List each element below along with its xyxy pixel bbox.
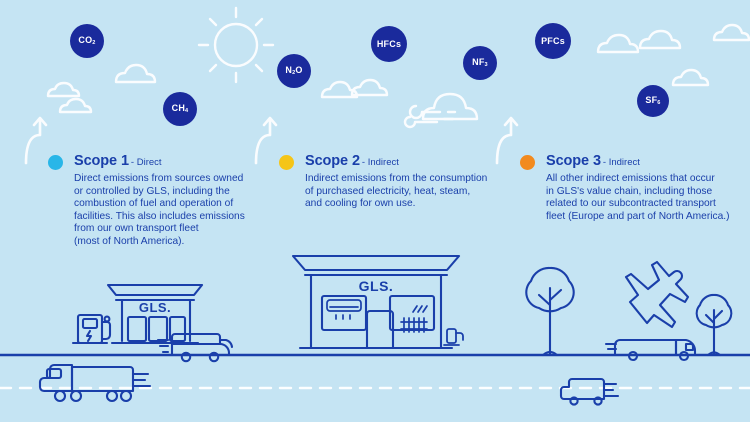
scope-1-block: Scope 1- Direct Direct emissions from so… [48,152,263,249]
scope-1-title: Scope 1 [74,153,129,169]
scope-3-heading: Scope 3- Indirect [546,152,729,170]
scope-3-block: Scope 3- Indirect All other indirect emi… [520,152,745,223]
scope-2-subtitle: - Indirect [362,157,399,168]
tree-icon [526,268,573,355]
scope-1-dot [48,155,63,170]
scope-2-title: Scope 2 [305,153,360,169]
pfcs-bubble: PFCs [535,23,571,59]
warehouse-sign: GLS. [359,278,394,294]
scope-3-dot [520,155,535,170]
sf6-bubble: SF6 [637,85,669,117]
scope-2-dot [279,155,294,170]
radiator-icon [401,306,427,332]
fuel-station-sign: GLS. [139,300,171,315]
scope-2-block: Scope 2- Indirect Indirect emissions fro… [279,152,501,211]
hfcs-bubble: HFCs [371,26,407,62]
n2o-bubble: N2O [277,54,311,88]
delivery-van-icon [561,379,618,405]
tree-icon [697,295,732,355]
scope-1-heading: Scope 1- Direct [74,152,245,170]
airplane-icon [626,262,688,327]
nf3-bubble: NF3 [463,46,497,80]
scope-1-description: Direct emissions from sources owned or c… [74,173,245,249]
scope-1-subtitle: - Direct [131,157,162,168]
semi-truck-icon [40,365,150,401]
ch4-bubble: CH4 [163,92,197,126]
scope-2-description: Indirect emissions from the consumption … [305,173,487,211]
warehouse-icon [293,256,459,348]
scope-3-description: All other indirect emissions that occur … [546,173,729,223]
air-conditioner-icon [327,300,361,319]
semi-truck-icon [606,340,695,360]
co2-bubble: CO2 [70,24,104,58]
ev-charger-icon [444,329,463,345]
scope-3-subtitle: - Indirect [603,157,640,168]
scope-3-title: Scope 3 [546,153,601,169]
ev-charger-icon [73,315,110,343]
infographic-canvas: GLS. [0,0,750,422]
scope-2-heading: Scope 2- Indirect [305,152,487,170]
